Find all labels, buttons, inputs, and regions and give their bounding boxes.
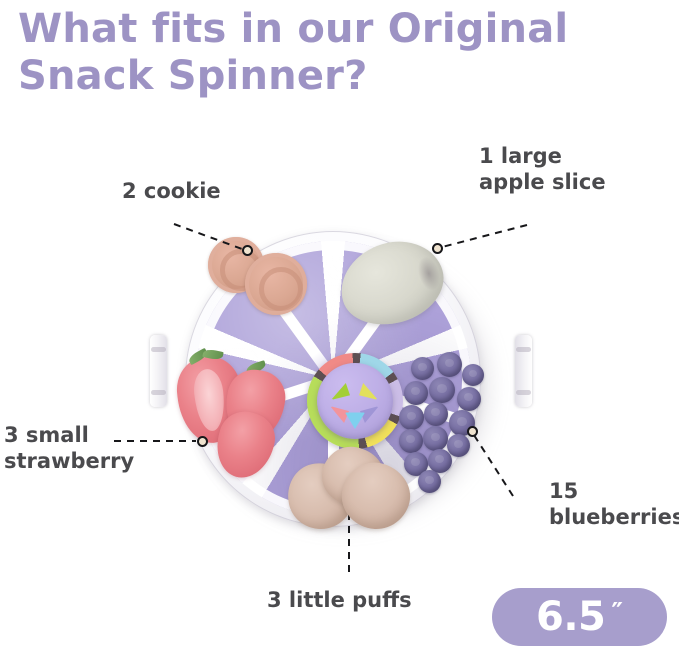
- leader-dot-cookie: [242, 245, 253, 256]
- callout-label-strawberry: 3 small strawberry: [4, 422, 134, 474]
- leader-dot-blueberries: [467, 426, 478, 437]
- leader-dot-strawberry: [197, 436, 208, 447]
- food-blueberry-10: [399, 429, 423, 453]
- size-badge-unit: ″: [611, 600, 623, 626]
- knob-shape-green-icon: [331, 383, 350, 400]
- callout-label-apple-slice: 1 large apple slice: [479, 143, 606, 195]
- page-title-line-2: Snack Spinner?: [18, 53, 668, 100]
- side-latch-right[interactable]: [515, 335, 532, 407]
- spinner-knob[interactable]: [317, 363, 393, 439]
- food-cookie-2: [245, 253, 307, 315]
- leader-dot-apple: [432, 243, 443, 254]
- food-blueberry-5: [429, 377, 455, 403]
- infographic-root: What fits in our Original Snack Spinner?: [0, 0, 679, 660]
- food-blueberry-4: [404, 381, 428, 405]
- food-blueberry-7: [399, 405, 424, 430]
- food-blueberry-8: [424, 402, 448, 426]
- page-title: What fits in our Original Snack Spinner?: [18, 6, 668, 100]
- callout-label-cookie: 2 cookie: [122, 178, 221, 204]
- size-badge: 6.5 ″: [492, 588, 667, 646]
- page-title-line-1: What fits in our Original: [18, 6, 568, 52]
- size-badge-value: 6.5: [536, 597, 605, 637]
- food-blueberry-6: [457, 387, 481, 411]
- knob-shape-yellow-icon: [359, 383, 378, 400]
- food-blueberry-11: [423, 426, 448, 451]
- food-blueberry-12: [447, 434, 470, 457]
- side-latch-left[interactable]: [150, 335, 167, 407]
- callout-label-puffs: 3 little puffs: [267, 587, 412, 613]
- food-blueberry-1: [411, 357, 434, 380]
- callout-label-blueberries: 15 blueberries: [549, 478, 679, 530]
- food-blueberry-3: [462, 364, 484, 386]
- knob-shape-pink-icon: [330, 406, 349, 423]
- strawberry-cut-face: [191, 368, 227, 433]
- knob-shape-blue-icon: [345, 411, 365, 429]
- food-blueberry-15: [418, 470, 441, 493]
- food-blueberry-2: [437, 352, 462, 377]
